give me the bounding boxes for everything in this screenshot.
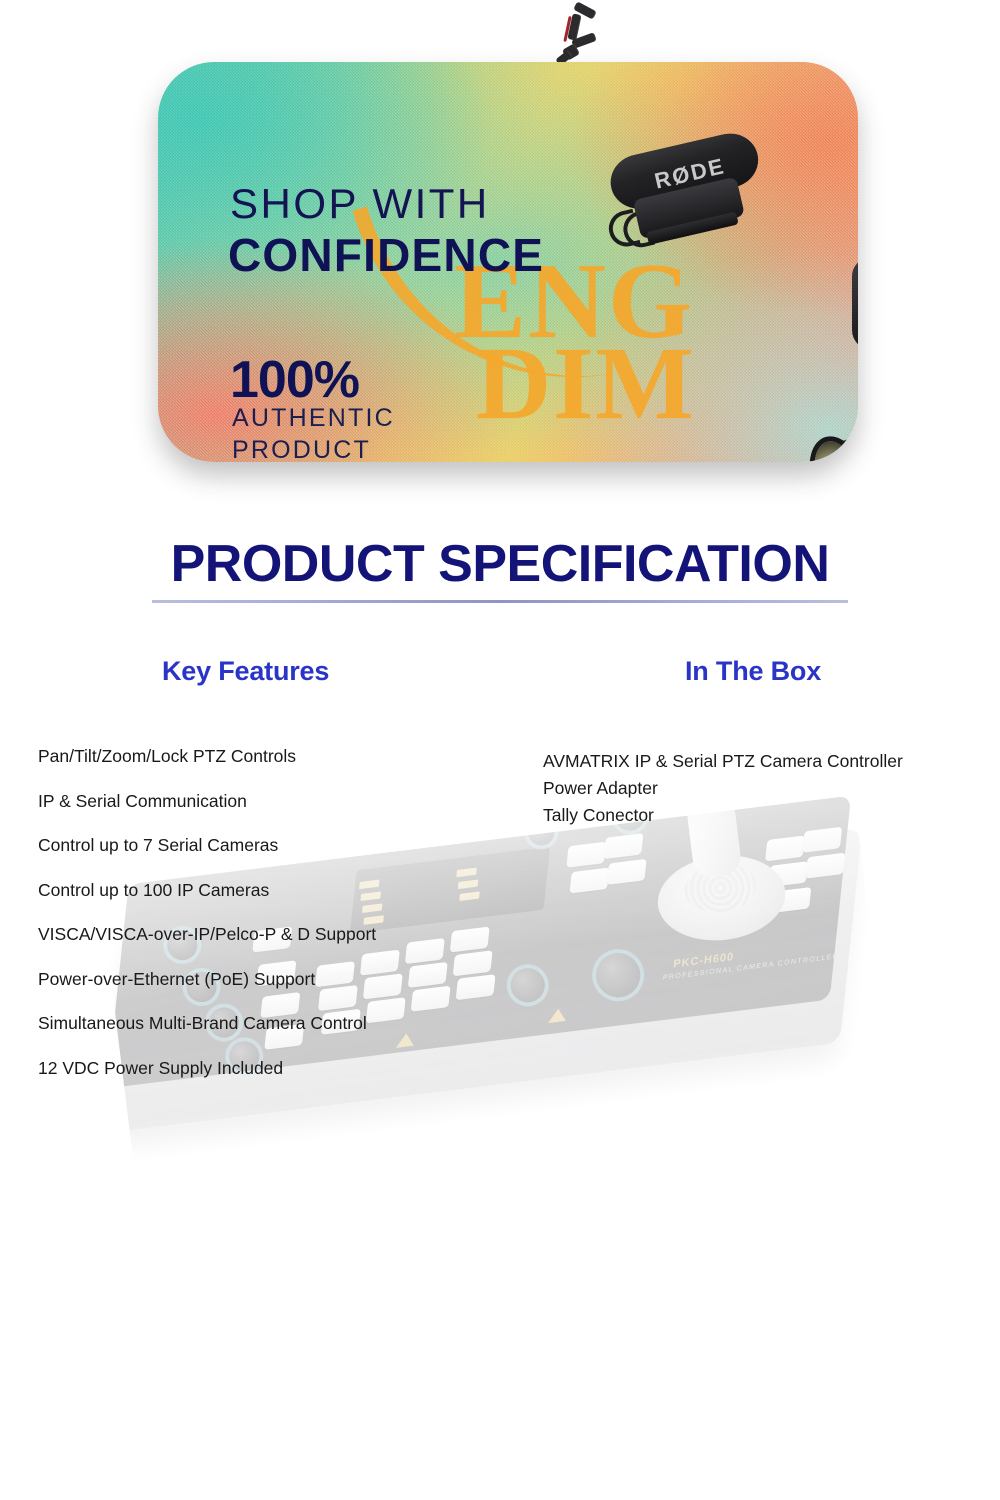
list-item: 12 VDC Power Supply Included: [38, 1060, 376, 1078]
authentic-line-1: AUTHENTIC: [232, 404, 395, 432]
list-item: Control up to 100 IP Cameras: [38, 882, 376, 900]
banner-shop-line: SHOP WITH: [230, 180, 490, 228]
key-features-list: Pan/Tilt/Zoom/Lock PTZ Controls IP & Ser…: [38, 748, 376, 1104]
page-title: PRODUCT SPECIFICATION: [0, 534, 1000, 594]
banner-confidence-line: CONFIDENCE: [228, 228, 544, 282]
specification-columns: Key Features Pan/Tilt/Zoom/Lock PTZ Cont…: [0, 656, 1000, 1216]
banner-percent: 100%: [230, 350, 359, 410]
canon-camera-image: Canon EOS R5: [846, 214, 858, 414]
list-item: Pan/Tilt/Zoom/Lock PTZ Controls: [38, 748, 376, 766]
watermark-word-dim: DIM: [476, 324, 696, 443]
list-item: AVMATRIX IP & Serial PTZ Camera Controll…: [543, 748, 903, 775]
list-item: Control up to 7 Serial Cameras: [38, 837, 376, 855]
promo-banner: ENG DIM SHOP WITH CONFIDENCE 100% AUTHEN…: [0, 0, 1000, 520]
title-underline: [152, 600, 848, 603]
list-item: Simultaneous Multi-Brand Camera Control: [38, 1015, 376, 1033]
list-item: Tally Conector: [543, 802, 903, 829]
product-specification-page: ENG DIM SHOP WITH CONFIDENCE 100% AUTHEN…: [0, 0, 1000, 1500]
list-item: IP & Serial Communication: [38, 793, 376, 811]
camera-grip: [852, 258, 858, 350]
list-item: Power-over-Ethernet (PoE) Support: [38, 971, 376, 989]
authentic-line-2: PRODUCT: [232, 436, 371, 462]
gimbal-stabilizer-image: [548, 2, 608, 66]
banner-card: ENG DIM SHOP WITH CONFIDENCE 100% AUTHEN…: [158, 62, 858, 462]
key-features-heading: Key Features: [162, 656, 329, 687]
in-the-box-heading: In The Box: [685, 656, 821, 687]
list-item: Power Adapter: [543, 775, 903, 802]
in-the-box-list: AVMATRIX IP & Serial PTZ Camera Controll…: [543, 748, 903, 829]
banner-authentic-text: AUTHENTICPRODUCT: [232, 402, 395, 462]
list-item: VISCA/VISCA-over-IP/Pelco-P & D Support: [38, 926, 376, 944]
page-title-block: PRODUCT SPECIFICATION: [0, 534, 1000, 603]
